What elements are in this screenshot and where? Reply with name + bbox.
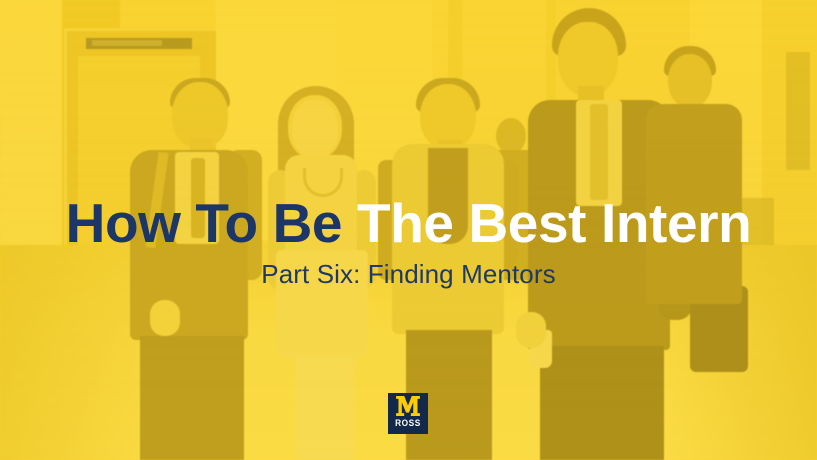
- page-title-part-one: How To Be: [66, 192, 357, 254]
- page-subtitle: Part Six: Finding Mentors: [0, 258, 817, 290]
- page-title: How To Be The Best Intern: [0, 193, 817, 253]
- michigan-ross-logo: ROSS: [388, 393, 428, 434]
- ross-wordmark: ROSS: [395, 418, 421, 428]
- title-slide: How To Be The Best Intern Part Six: Find…: [0, 0, 817, 460]
- page-title-part-two: The Best Intern: [357, 192, 751, 254]
- slide-content: How To Be The Best Intern Part Six: Find…: [0, 0, 817, 460]
- block-m-icon: [396, 396, 420, 416]
